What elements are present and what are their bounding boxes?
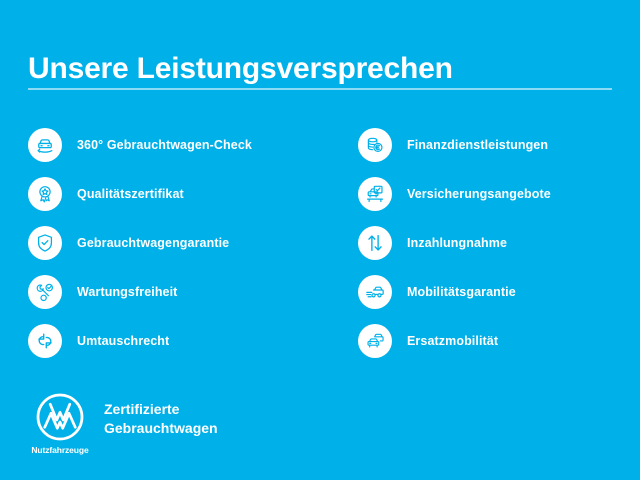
volkswagen-logo: Nutzfahrzeuge — [28, 392, 92, 455]
shield-check-icon — [28, 226, 62, 260]
title-divider — [28, 88, 612, 90]
benefit-item-wartungsfreiheit: Wartungsfreiheit — [28, 267, 358, 316]
benefit-label: Qualitätszertifikat — [77, 187, 184, 201]
benefit-label: Wartungsfreiheit — [77, 285, 177, 299]
benefit-label: Ersatzmobilität — [407, 334, 498, 348]
tow-truck-icon — [358, 275, 392, 309]
brand-sublabel: Nutzfahrzeuge — [31, 445, 88, 455]
benefit-label: Finanzdienstleistungen — [407, 138, 548, 152]
benefit-label: Gebrauchtwagengarantie — [77, 236, 229, 250]
brand-lockup: Nutzfahrzeuge Zertifizierte Gebrauchtwag… — [28, 392, 218, 455]
exchange-arrows-icon — [28, 324, 62, 358]
wrench-check-icon — [28, 275, 62, 309]
benefit-label: Inzahlungnahme — [407, 236, 507, 250]
benefit-item-qualitaetszertifikat: Qualitätszertifikat — [28, 169, 358, 218]
benefit-label: Versicherungsangebote — [407, 187, 551, 201]
benefit-label: Mobilitätsgarantie — [407, 285, 516, 299]
two-cars-icon — [358, 324, 392, 358]
page-title: Unsere Leistungsversprechen — [28, 52, 453, 85]
up-down-arrows-icon — [358, 226, 392, 260]
benefit-item-360-check: 360° Gebrauchtwagen-Check — [28, 120, 358, 169]
coins-euro-icon — [358, 128, 392, 162]
benefit-item-mobilitaetsgarantie: Mobilitätsgarantie — [358, 267, 618, 316]
brand-tagline-line1: Zertifizierte — [104, 400, 218, 419]
car-360-check-icon — [28, 128, 62, 162]
slide-root: Unsere Leistungsversprechen 360° Gebrauc… — [0, 0, 640, 480]
benefit-item-gebrauchtwagengarantie: Gebrauchtwagengarantie — [28, 218, 358, 267]
quality-rosette-icon — [28, 177, 62, 211]
benefit-label: Umtauschrecht — [77, 334, 169, 348]
benefit-item-versicherungsangebote: Versicherungsangebote — [358, 169, 618, 218]
benefit-label: 360° Gebrauchtwagen-Check — [77, 138, 252, 152]
brand-tagline: Zertifizierte Gebrauchtwagen — [104, 400, 218, 437]
benefits-grid: 360° Gebrauchtwagen-Check Finanzdienstle… — [28, 120, 618, 365]
benefit-item-ersatzmobilitaet: Ersatzmobilität — [358, 316, 618, 365]
benefit-item-finanzdienstleistungen: Finanzdienstleistungen — [358, 120, 618, 169]
benefit-item-inzahlungnahme: Inzahlungnahme — [358, 218, 618, 267]
brand-tagline-line2: Gebrauchtwagen — [104, 419, 218, 438]
insurance-document-car-icon — [358, 177, 392, 211]
benefit-item-umtauschrecht: Umtauschrecht — [28, 316, 358, 365]
